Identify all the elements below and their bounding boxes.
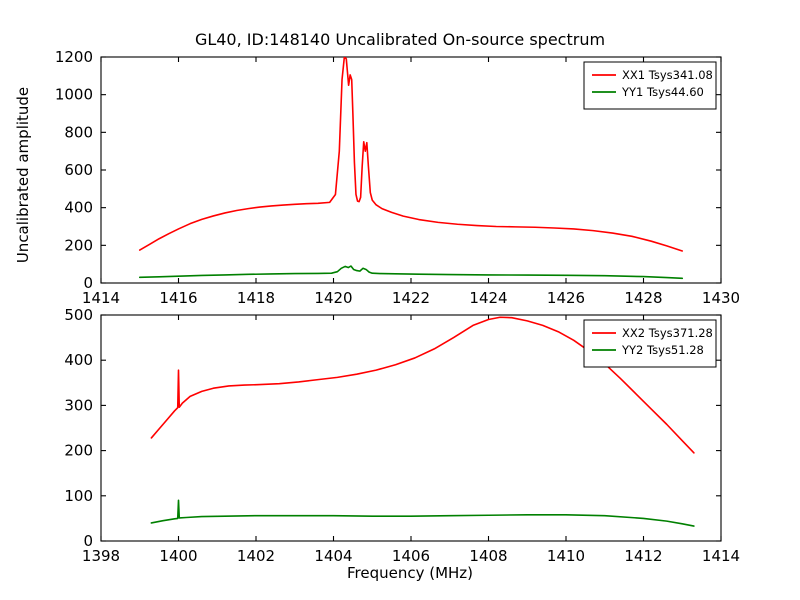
y-tick-label: 400 (64, 351, 93, 369)
x-tick-label: 1406 (392, 547, 430, 565)
x-tick-label: 1420 (314, 289, 352, 307)
y-tick-label: 800 (64, 123, 93, 141)
legend: XX1 Tsys341.08YY1 Tsys44.60 (584, 62, 716, 109)
x-tick-label: 1400 (159, 547, 197, 565)
y-tick-label: 0 (83, 274, 93, 292)
page-title: GL40, ID:148140 Uncalibrated On-source s… (195, 30, 605, 49)
x-tick-label: 1402 (237, 547, 275, 565)
x-tick-label: 1410 (547, 547, 585, 565)
x-tick-label: 1414 (702, 547, 740, 565)
y-tick-label: 300 (64, 396, 93, 414)
x-tick-label: 1404 (314, 547, 352, 565)
x-tick-label: 1426 (547, 289, 585, 307)
x-tick-label: 1416 (159, 289, 197, 307)
figure-canvas: GL40, ID:148140 Uncalibrated On-source s… (0, 0, 800, 600)
legend-label: YY1 Tsys44.60 (621, 85, 704, 99)
y-tick-label: 100 (64, 487, 93, 505)
legend-label: XX2 Tsys371.28 (622, 326, 713, 340)
y-tick-label: 200 (64, 236, 93, 254)
x-tick-label: 1408 (469, 547, 507, 565)
x-tick-label: 1424 (469, 289, 507, 307)
spectrum-figure: GL40, ID:148140 Uncalibrated On-source s… (0, 0, 800, 600)
y-tick-label: 500 (64, 306, 93, 324)
y-tick-label: 200 (64, 442, 93, 460)
y-tick-label: 600 (64, 161, 93, 179)
x-tick-label: 1430 (702, 289, 740, 307)
x-tick-label: 1418 (237, 289, 275, 307)
legend: XX2 Tsys371.28YY2 Tsys51.28 (584, 320, 716, 367)
x-axis-label: Frequency (MHz) (347, 564, 473, 582)
x-tick-label: 1422 (392, 289, 430, 307)
y-tick-label: 1000 (55, 86, 93, 104)
legend-label: YY2 Tsys51.28 (621, 343, 704, 357)
y-tick-label: 0 (83, 532, 93, 550)
x-tick-label: 1412 (624, 547, 662, 565)
x-tick-label: 1428 (624, 289, 662, 307)
legend-label: XX1 Tsys341.08 (622, 68, 713, 82)
y-tick-label: 400 (64, 199, 93, 217)
y-tick-label: 1200 (55, 48, 93, 66)
y-axis-label: Uncalibrated amplitude (14, 87, 32, 263)
